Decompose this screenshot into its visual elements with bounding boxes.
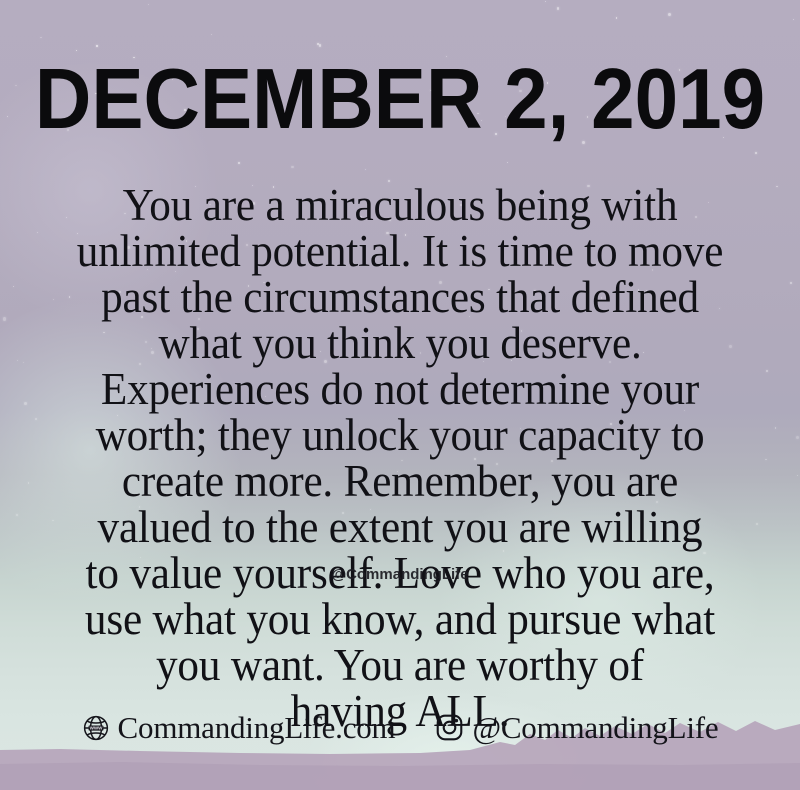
- star-dot: [76, 50, 77, 51]
- star-dot: [797, 475, 798, 476]
- star-dot: [557, 7, 559, 9]
- watermark-handle: @CommandingLife: [0, 566, 800, 583]
- star-dot: [96, 45, 97, 46]
- star-dot: [365, 169, 366, 170]
- star-dot: [15, 85, 16, 86]
- quote-line: Experiences do not determine your: [24, 366, 777, 412]
- star-dot: [319, 44, 321, 46]
- star-dot: [668, 13, 671, 16]
- quote-line: past the circumstances that defined: [24, 274, 777, 320]
- quote-line: worth; they unlock your capacity to: [24, 412, 777, 458]
- star-dot: [317, 43, 318, 44]
- footer-website-label: CommandingLife.com: [118, 712, 396, 743]
- quote-line: you want. You are worthy of: [24, 642, 777, 688]
- quote-line: You are a miraculous being with: [24, 182, 777, 228]
- page-title: DECEMBER 2, 2019: [32, 58, 768, 141]
- star-dot: [796, 436, 799, 439]
- quote-line: use what you know, and pursue what: [24, 596, 777, 642]
- footer-website-group[interactable]: WWW CommandingLife.com: [82, 712, 396, 743]
- globe-www-icon: WWW: [82, 714, 110, 742]
- star-dot: [291, 166, 293, 168]
- footer-bar: WWW CommandingLife.com @CommandingLife: [0, 712, 800, 743]
- star-dot: [3, 317, 6, 320]
- star-dot: [7, 116, 8, 117]
- star-dot: [507, 162, 508, 163]
- quote-text: You are a miraculous being withunlimited…: [8, 182, 792, 734]
- star-dot: [545, 1, 546, 2]
- star-dot: [755, 152, 757, 154]
- quote-line: valued to the extent you are willing: [24, 504, 777, 550]
- star-dot: [148, 4, 149, 5]
- footer-instagram-label: @CommandingLife: [472, 712, 718, 743]
- star-dot: [616, 17, 617, 18]
- quote-line: what you think you deserve.: [24, 320, 777, 366]
- star-dot: [40, 37, 41, 38]
- star-dot: [238, 162, 240, 164]
- instagram-icon: [435, 713, 464, 742]
- quote-line: create more. Remember, you are: [24, 458, 777, 504]
- star-dot: [793, 19, 794, 20]
- svg-text:WWW: WWW: [89, 725, 103, 730]
- footer-instagram-group[interactable]: @CommandingLife: [435, 712, 718, 743]
- quote-line: unlimited potential. It is time to move: [24, 228, 777, 274]
- quote-image-canvas: DECEMBER 2, 2019 You are a miraculous be…: [0, 0, 800, 790]
- star-dot: [211, 34, 212, 35]
